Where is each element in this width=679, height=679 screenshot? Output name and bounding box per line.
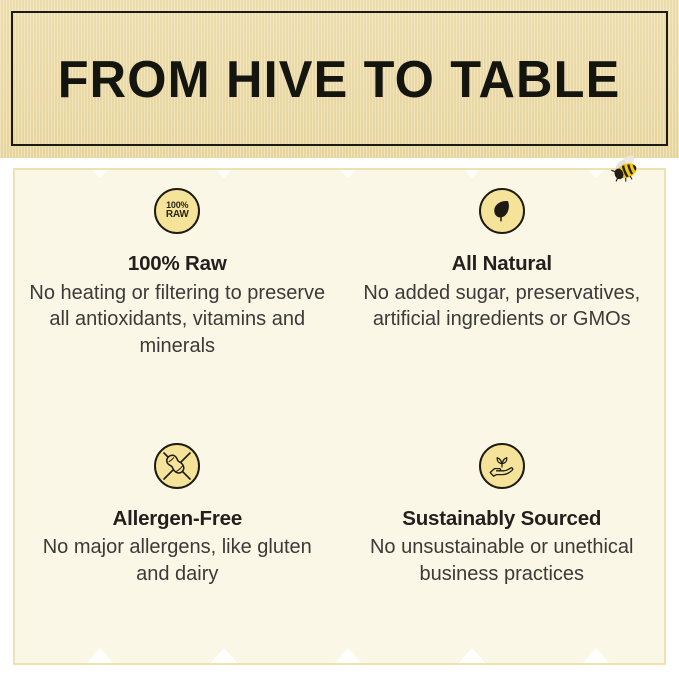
page-title: FROM HIVE TO TABLE — [58, 54, 621, 106]
feature-description: No unsustainable or unethical business p… — [352, 534, 652, 587]
peanut-crossed-out-icon — [154, 443, 200, 489]
feature-card-sustainably-sourced: Sustainably Sourced No unsustainable or … — [340, 417, 665, 664]
features-grid: 100% RAW 100% Raw No heating or filterin… — [15, 170, 664, 663]
feature-description: No major allergens, like gluten and dair… — [27, 534, 327, 587]
header-banner: FROM HIVE TO TABLE — [0, 0, 679, 158]
bee-icon — [608, 155, 644, 187]
100-percent-raw-badge-icon: 100% RAW — [154, 188, 200, 234]
feature-title: 100% Raw — [128, 253, 227, 276]
feature-card-allergen-free: Allergen-Free No major allergens, like g… — [15, 417, 340, 664]
feature-title: Sustainably Sourced — [402, 508, 601, 531]
feature-card-100-percent-raw: 100% RAW 100% Raw No heating or filterin… — [15, 170, 340, 417]
badge-label: 100% RAW — [166, 201, 189, 221]
feature-title: All Natural — [452, 253, 552, 276]
header-banner-frame: FROM HIVE TO TABLE — [11, 11, 668, 146]
feature-description: No added sugar, preservatives, artificia… — [352, 280, 652, 333]
leaf-icon — [479, 188, 525, 234]
feature-card-all-natural: All Natural No added sugar, preservative… — [340, 170, 665, 417]
feature-description: No heating or filtering to preserve all … — [27, 280, 327, 360]
features-panel: 100% RAW 100% Raw No heating or filterin… — [13, 168, 666, 665]
feature-title: Allergen-Free — [112, 508, 242, 531]
hand-holding-sprout-icon — [479, 443, 525, 489]
badge-line-2: RAW — [166, 210, 189, 221]
infographic-root: FROM HIVE TO TABLE — [0, 0, 679, 679]
